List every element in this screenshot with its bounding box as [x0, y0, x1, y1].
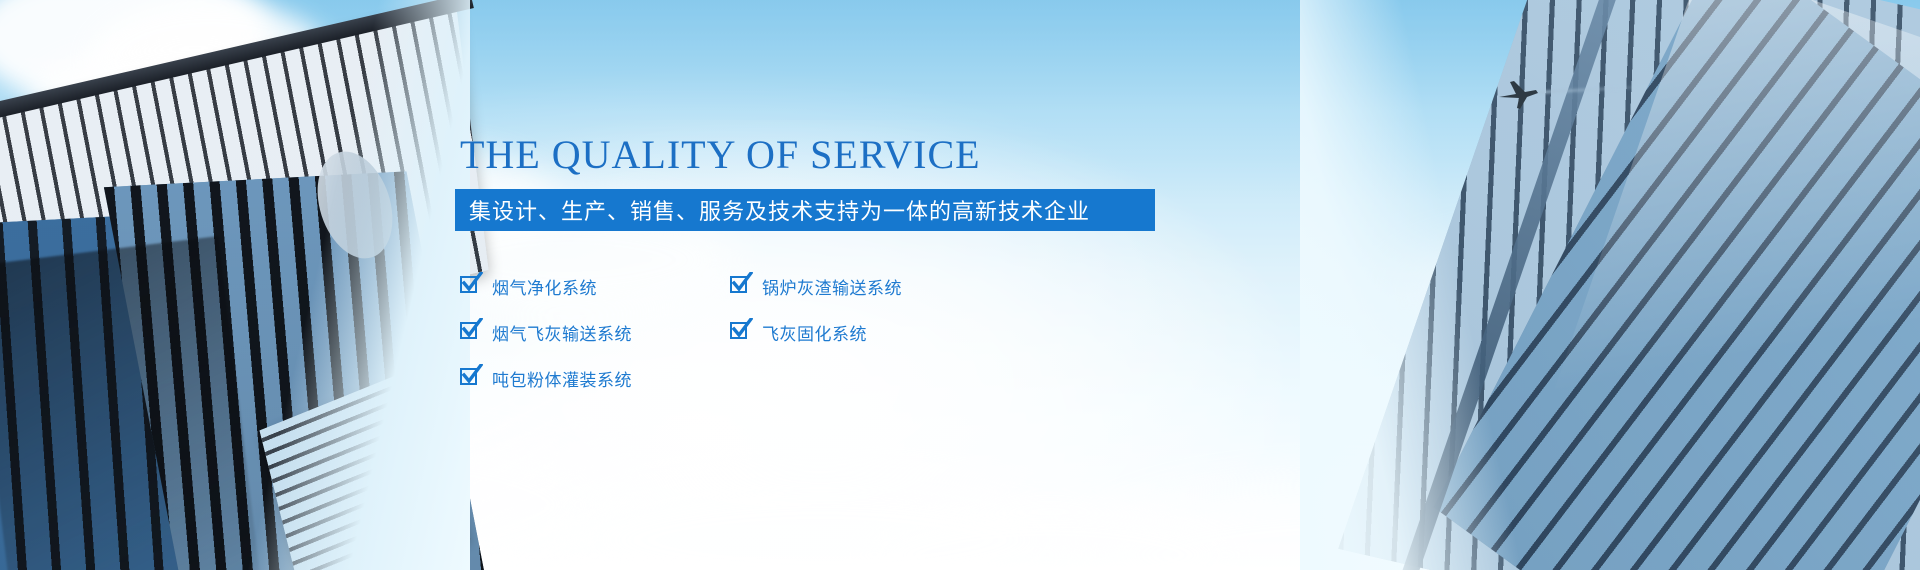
left-image-fade-mask: [0, 0, 470, 570]
subtitle-bar: 集设计、生产、销售、服务及技术支持为一体的高新技术企业: [455, 189, 1155, 231]
list-item[interactable]: 烟气净化系统: [455, 263, 725, 309]
checkbox-checked-icon: [730, 276, 750, 296]
checkbox-checked-icon: [460, 322, 480, 342]
list-item[interactable]: 烟气飞灰输送系统: [455, 309, 725, 355]
checkbox-checked-icon: [460, 276, 480, 296]
list-item[interactable]: 吨包粉体灌装系统: [455, 355, 725, 401]
left-building-image: [0, 0, 470, 570]
feature-list: 烟气净化系统 锅炉灰渣输送系统 烟气飞灰输送系统: [455, 263, 995, 401]
list-item-label: 吨包粉体灌装系统: [492, 366, 632, 391]
airplane-icon: [1496, 78, 1540, 112]
list-item-label: 烟气飞灰输送系统: [492, 320, 632, 345]
hero-banner: THE QUALITY OF SERVICE 集设计、生产、销售、服务及技术支持…: [0, 0, 1920, 570]
list-item[interactable]: 飞灰固化系统: [725, 309, 995, 355]
checkbox-checked-icon: [730, 322, 750, 342]
list-item[interactable]: 锅炉灰渣输送系统: [725, 263, 995, 309]
list-item-label: 烟气净化系统: [492, 274, 597, 299]
page-title: THE QUALITY OF SERVICE: [455, 135, 1415, 175]
banner-content: THE QUALITY OF SERVICE 集设计、生产、销售、服务及技术支持…: [455, 135, 1415, 401]
list-item-label: 锅炉灰渣输送系统: [762, 274, 902, 299]
list-item-label: 飞灰固化系统: [762, 320, 867, 345]
checkbox-checked-icon: [460, 368, 480, 388]
subtitle-text: 集设计、生产、销售、服务及技术支持为一体的高新技术企业: [469, 194, 1090, 226]
